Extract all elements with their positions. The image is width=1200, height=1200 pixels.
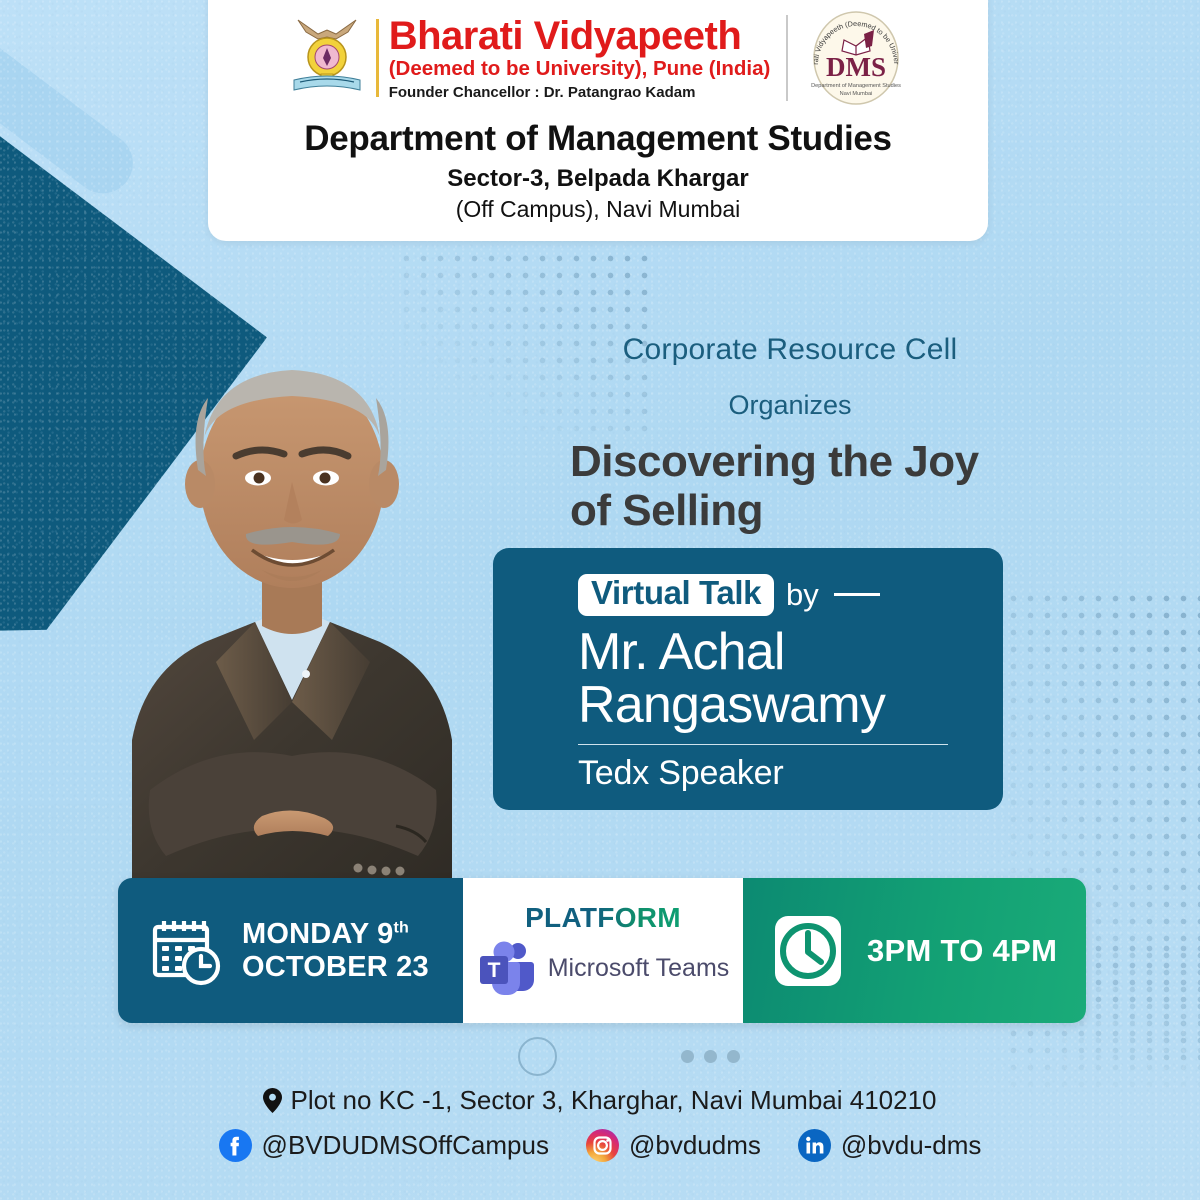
svg-text:Department of Management Studi: Department of Management Studies — [811, 83, 901, 89]
university-name: Bharati Vidyapeeth — [389, 16, 742, 56]
logo-divider-yellow — [376, 19, 379, 97]
facebook-handle: @BVDUDMSOffCampus — [262, 1130, 549, 1161]
svg-text:DMS: DMS — [826, 52, 886, 82]
clock-icon — [771, 914, 845, 988]
social-facebook[interactable]: @BVDUDMSOffCampus — [219, 1129, 549, 1162]
speaker-role: Tedx Speaker — [578, 754, 1003, 793]
founder-chancellor-line: Founder Chancellor : Dr. Patangrao Kadam — [389, 85, 696, 100]
founder-prefix: Founder Chancellor : — [389, 84, 544, 101]
platform-name: Microsoft Teams — [548, 954, 730, 983]
location-pin-icon — [263, 1088, 282, 1113]
date-line1: MONDAY 9 — [242, 918, 394, 950]
time-text: 3PM TO 4PM — [867, 933, 1057, 969]
talk-title-line2: of Selling — [570, 486, 1050, 535]
speaker-panel: Virtual Talk by Mr. Achal Rangaswamy Ted… — [493, 548, 1003, 810]
address-row: Plot no KC -1, Sector 3, Kharghar, Navi … — [0, 1085, 1200, 1116]
speaker-photo — [40, 270, 540, 910]
bharati-vidyapeeth-crest-icon — [288, 12, 366, 104]
date-text: MONDAY 9th OCTOBER 23 — [242, 918, 429, 983]
department-address-line2: (Off Campus), Navi Mumbai — [226, 196, 970, 223]
facebook-icon — [219, 1129, 252, 1162]
social-linkedin[interactable]: @bvdu-dms — [798, 1129, 982, 1162]
linkedin-icon — [798, 1129, 831, 1162]
logo-row: Bharati Vidyapeeth (Deemed to be Univers… — [226, 6, 970, 110]
dash-decoration — [834, 593, 880, 596]
university-subtitle: (Deemed to be University), Pune (India) — [389, 59, 771, 80]
circle-outline-decoration — [518, 1037, 557, 1076]
platform-value-row: T Microsoft Teams — [477, 938, 730, 1000]
by-label: by — [786, 577, 819, 613]
instagram-handle: @bvdudms — [629, 1130, 761, 1161]
dot-decoration-3 — [727, 1050, 740, 1063]
time-segment: 3PM TO 4PM — [743, 878, 1086, 1023]
platform-segment: PLATFORM T Microsoft Teams — [463, 878, 743, 1023]
social-instagram[interactable]: @bvdudms — [586, 1129, 761, 1162]
address-text: Plot no KC -1, Sector 3, Kharghar, Navi … — [290, 1085, 936, 1116]
svg-text:T: T — [487, 959, 500, 982]
info-bar: MONDAY 9th OCTOBER 23 PLATFORM T Microso… — [118, 878, 1086, 1023]
linkedin-handle: @bvdu-dms — [841, 1130, 982, 1161]
dot-decoration-2 — [704, 1050, 717, 1063]
calendar-clock-icon — [148, 913, 224, 989]
talk-title: Discovering the Joy of Selling — [570, 437, 1050, 536]
dot-decoration-1 — [681, 1050, 694, 1063]
date-segment: MONDAY 9th OCTOBER 23 — [118, 878, 463, 1023]
department-address-line1: Sector-3, Belpada Khargar — [226, 165, 970, 193]
instagram-icon — [586, 1129, 619, 1162]
university-text-block: Bharati Vidyapeeth (Deemed to be Univers… — [389, 16, 771, 100]
founder-name: Dr. Patangrao Kadam — [544, 84, 696, 101]
date-line2: OCTOBER 23 — [242, 951, 429, 983]
speaker-name-line1: Mr. Achal — [578, 626, 1003, 680]
speaker-name: Mr. Achal Rangaswamy — [578, 626, 1003, 733]
organizer-label: Corporate Resource Cell — [575, 333, 1005, 367]
poster-canvas: Bharati Vidyapeeth (Deemed to be Univers… — [0, 0, 1200, 1200]
microsoft-teams-icon: T — [477, 938, 539, 1000]
virtual-talk-chip: Virtual Talk — [578, 574, 774, 616]
speaker-portrait-illustration — [40, 270, 540, 910]
speaker-divider — [578, 744, 948, 746]
svg-text:Navi Mumbai: Navi Mumbai — [840, 91, 873, 97]
social-links-row: @BVDUDMSOffCampus — [0, 1129, 1200, 1162]
platform-label: PLATFORM — [525, 902, 681, 934]
footer: Plot no KC -1, Sector 3, Kharghar, Navi … — [0, 1085, 1200, 1162]
dms-seal-icon: Bharati Vidyapeeth (Deemed to be Univers… — [804, 6, 908, 110]
header-card: Bharati Vidyapeeth (Deemed to be Univers… — [208, 0, 988, 241]
logo-divider-gray — [786, 15, 788, 101]
organizes-label: Organizes — [575, 390, 1005, 421]
speaker-name-line2: Rangaswamy — [578, 679, 1003, 733]
date-line1-wrap: MONDAY 9th — [242, 918, 429, 950]
talk-title-line1: Discovering the Joy — [570, 437, 1050, 486]
date-ordinal: th — [394, 919, 410, 936]
virtual-talk-row: Virtual Talk by — [578, 574, 1003, 616]
department-title: Department of Management Studies — [226, 119, 970, 159]
